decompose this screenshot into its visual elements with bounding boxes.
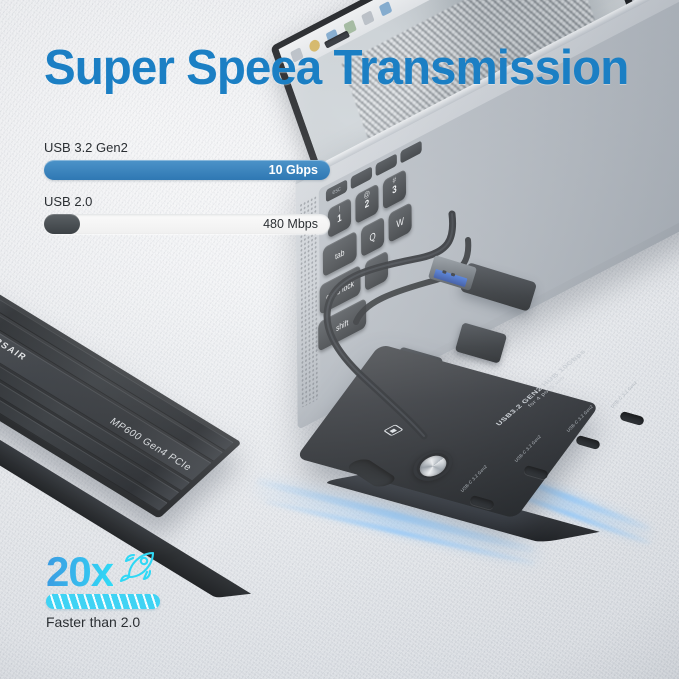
speed-value-usb32: 10 Gbps: [269, 163, 318, 177]
speed-label-usb20: USB 2.0: [44, 194, 330, 209]
speed-value-usb20: 480 Mbps: [263, 217, 318, 231]
speed-bar-usb32: 10 Gbps: [44, 160, 330, 180]
badge-subtitle: Faster than 2.0: [46, 614, 246, 630]
badge-top-row: 20x: [46, 546, 246, 592]
product-marketing-image: Ma esc ! 1 @ 2: [0, 0, 679, 679]
speed-label-usb32: USB 3.2 Gen2: [44, 140, 330, 155]
badge-progress-bar: [46, 594, 160, 609]
rocket-icon: [117, 549, 157, 588]
speed-multiplier-badge: 20x Faster than 2.0: [46, 546, 246, 630]
speed-bar-usb20-fill: [44, 214, 80, 234]
badge-multiplier: 20x: [46, 552, 113, 592]
page-title: Super Speea Transmission: [44, 44, 628, 93]
speed-row-usb20: USB 2.0 480 Mbps: [44, 194, 330, 234]
speed-bar-usb20: 480 Mbps: [44, 214, 330, 234]
speed-row-usb32: USB 3.2 Gen2 10 Gbps: [44, 140, 330, 180]
